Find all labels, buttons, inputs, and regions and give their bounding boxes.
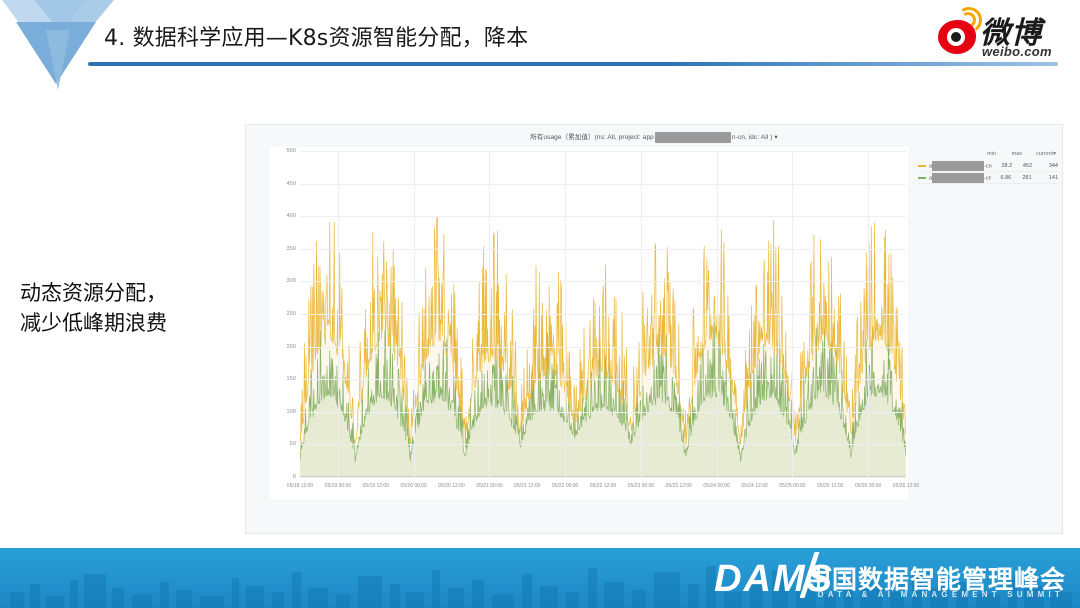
vertical-gridline (565, 151, 566, 477)
horizontal-gridline (300, 249, 906, 250)
legend-row[interactable]: a-cn-request28.2452344 (918, 160, 1058, 172)
horizontal-gridline (300, 477, 906, 478)
y-axis-tick-label: 500 (287, 148, 296, 154)
x-axis-tick-label: 05/21 12:00 (514, 483, 540, 489)
y-axis-tick-label: 0 (293, 474, 296, 480)
legend-max-value: 281 (1011, 175, 1031, 181)
legend-row[interactable]: a-cn-usage6.86281141 (918, 172, 1058, 184)
weibo-brand-domain: weibo.com (982, 44, 1052, 59)
vertical-gridline (338, 151, 339, 477)
panel-title-prefix: 所有usage（累加值）(ns: All, project: app (530, 134, 654, 141)
legend-series-name[interactable]: a-cn-request (929, 161, 992, 171)
x-axis-tick-label: 05/23 00:00 (628, 483, 654, 489)
legend-col-min[interactable]: min (970, 151, 996, 157)
y-axis-tick-label: 400 (287, 213, 296, 219)
x-axis-tick-label: 05/21 00:00 (476, 483, 502, 489)
legend-max-value: 452 (1012, 163, 1032, 169)
weibo-logo: 微博 weibo.com (936, 6, 1066, 64)
vertical-gridline (717, 151, 718, 477)
footer-banner: DAMS 中国数据智能管理峰会 DATA & AI MANAGEMENT SUM… (0, 548, 1080, 608)
slide-caption: 动态资源分配， 减少低峰期浪费 (20, 278, 235, 339)
caption-line-2: 减少低峰期浪费 (20, 308, 235, 338)
y-axis-tick-label: 350 (287, 246, 296, 252)
x-axis-tick-label: 05/26 12:00 (893, 483, 919, 489)
deco-triangle-logo (2, 0, 120, 92)
vertical-gridline (489, 151, 490, 477)
page-title: 4. 数据科学应用—K8s资源智能分配，降本 (104, 20, 528, 52)
y-axis-tick-label: 100 (287, 409, 296, 415)
x-axis: 05/18 12:0005/19 00:0005/19 12:0005/20 0… (300, 479, 906, 497)
horizontal-gridline (300, 216, 906, 217)
title-divider (88, 62, 1058, 66)
vertical-gridline (641, 151, 642, 477)
y-axis-tick-label: 50 (290, 441, 296, 447)
vertical-gridline (414, 151, 415, 477)
legend-min-value: 6.86 (991, 175, 1011, 181)
y-axis-tick-label: 250 (287, 311, 296, 317)
legend-col-max[interactable]: max (996, 151, 1022, 157)
redacted-block (932, 161, 984, 171)
triangle-tail-icon (46, 30, 70, 90)
redacted-block (655, 132, 731, 143)
legend-current-value: 141 (1032, 175, 1059, 181)
x-axis-tick-label: 05/25 12:00 (817, 483, 843, 489)
x-axis-tick-label: 05/26 00:00 (855, 483, 881, 489)
x-axis-tick-label: 05/19 00:00 (325, 483, 351, 489)
legend-series-name[interactable]: a-cn-usage (929, 173, 991, 183)
legend-col-current[interactable]: current▾ (1022, 151, 1056, 157)
legend-color-swatch (918, 177, 926, 179)
x-axis-tick-label: 05/22 00:00 (552, 483, 578, 489)
legend-color-swatch (918, 165, 926, 167)
horizontal-gridline (300, 379, 906, 380)
vertical-gridline (868, 151, 869, 477)
horizontal-gridline (300, 184, 906, 185)
legend-rows: a-cn-request28.2452344a-cn-usage6.862811… (918, 160, 1058, 184)
horizontal-gridline (300, 281, 906, 282)
panel-title[interactable]: 所有usage（累加值）(ns: All, project: appn-cn, … (246, 131, 1062, 143)
caption-line-1: 动态资源分配， (20, 278, 235, 308)
x-axis-tick-label: 05/22 12:00 (590, 483, 616, 489)
horizontal-gridline (300, 151, 906, 152)
timeseries-plot[interactable]: 050100150200250300350400450500 05/18 12:… (270, 147, 908, 499)
weibo-eye-icon (938, 20, 976, 54)
y-axis-tick-label: 300 (287, 278, 296, 284)
y-axis-tick-label: 150 (287, 376, 296, 382)
grafana-panel[interactable]: 所有usage（累加值）(ns: All, project: appn-cn, … (245, 124, 1063, 534)
x-axis-tick-label: 05/23 12:00 (666, 483, 692, 489)
redacted-block (932, 173, 984, 183)
chart-legend[interactable]: min max current▾ a-cn-request28.2452344a… (918, 151, 1058, 184)
horizontal-gridline (300, 314, 906, 315)
x-axis-tick-label: 05/20 00:00 (400, 483, 426, 489)
panel-title-suffix: n-cn, idc: All ) (732, 134, 775, 141)
legend-min-value: 28.2 (992, 163, 1012, 169)
y-axis: 050100150200250300350400450500 (270, 147, 300, 477)
y-axis-tick-label: 200 (287, 344, 296, 350)
x-axis-tick-label: 05/18 12:00 (287, 483, 313, 489)
x-axis-tick-label: 05/24 00:00 (703, 483, 729, 489)
x-axis-tick-label: 05/24 12:00 (741, 483, 767, 489)
y-axis-tick-label: 450 (287, 181, 296, 187)
x-axis-tick-label: 05/20 12:00 (438, 483, 464, 489)
x-axis-tick-label: 05/19 12:00 (363, 483, 389, 489)
dams-title-en: DATA & AI MANAGEMENT SUMMIT (818, 590, 1064, 599)
legend-header: min max current▾ (918, 151, 1058, 157)
horizontal-gridline (300, 412, 906, 413)
chevron-down-icon[interactable]: ▾ (774, 134, 777, 141)
horizontal-gridline (300, 347, 906, 348)
slide-header: 4. 数据科学应用—K8s资源智能分配，降本 微博 weibo.com (0, 0, 1080, 80)
horizontal-gridline (300, 444, 906, 445)
vertical-gridline (792, 151, 793, 477)
legend-current-value: 344 (1032, 163, 1058, 169)
x-axis-tick-label: 05/25 00:00 (779, 483, 805, 489)
